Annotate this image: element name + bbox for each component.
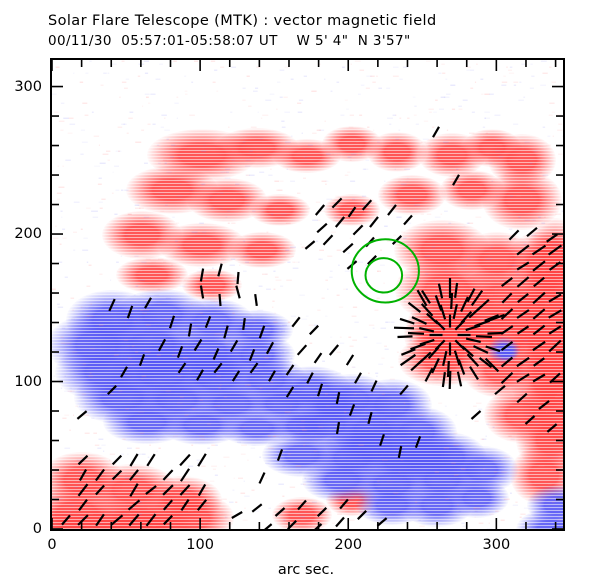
field-vector: [298, 345, 307, 355]
field-vector: [243, 318, 245, 330]
field-vector: [502, 278, 513, 286]
field-vector: [108, 386, 116, 394]
field-vector: [260, 326, 264, 338]
field-vector: [206, 316, 210, 327]
field-vector: [96, 470, 104, 481]
field-vector: [517, 358, 529, 366]
field-vector: [140, 354, 144, 365]
field-vector: [518, 294, 528, 302]
field-vector: [197, 370, 203, 380]
field-vector: [448, 361, 449, 377]
field-vector: [288, 521, 296, 529]
figure-title: Solar Flare Telescope (MTK) : vector mag…: [48, 13, 437, 29]
field-vector: [468, 289, 475, 302]
field-vector: [316, 205, 324, 215]
field-vector: [517, 374, 529, 382]
field-vector: [353, 225, 362, 234]
field-vector: [145, 298, 151, 308]
y-tick-label: 200: [8, 226, 42, 242]
field-vector: [533, 246, 546, 255]
field-vector: [547, 424, 556, 432]
field-vector: [533, 293, 545, 304]
field-vector: [550, 262, 561, 270]
field-vector: [251, 363, 258, 373]
field-vector: [550, 373, 560, 382]
field-vector: [517, 394, 527, 403]
field-vector: [298, 501, 306, 510]
field-vector: [502, 373, 513, 383]
field-vector: [488, 333, 503, 334]
field-vector: [526, 416, 535, 424]
field-vector: [112, 515, 123, 524]
y-tick-label: 0: [8, 521, 42, 537]
field-vector: [517, 245, 529, 254]
field-vector: [501, 326, 513, 334]
plot-area: [50, 58, 565, 531]
field-vector: [129, 500, 140, 509]
field-vector: [420, 340, 434, 345]
field-vector: [377, 518, 386, 526]
field-vector: [163, 470, 172, 480]
field-vector: [533, 342, 545, 350]
field-vector: [470, 367, 478, 380]
field-vector: [363, 200, 372, 210]
field-vector: [80, 470, 86, 481]
field-vector: [96, 514, 104, 525]
field-vector: [533, 309, 544, 319]
field-vector: [549, 326, 561, 333]
field-vector: [181, 500, 188, 511]
field-vector: [201, 269, 203, 282]
field-vector: [77, 411, 86, 419]
field-vector: [370, 217, 378, 227]
field-vector: [201, 286, 203, 299]
field-vector: [458, 372, 461, 387]
field-vector: [178, 346, 182, 357]
field-vector: [439, 284, 442, 299]
field-vector: [400, 385, 408, 394]
field-vector: [358, 511, 366, 519]
field-vector: [129, 515, 138, 526]
figure-subtitle: 00/11/30 05:57:01-05:58:07 UT W 5' 4" N …: [48, 33, 411, 49]
field-vector: [232, 512, 242, 518]
field-vector: [199, 484, 205, 495]
field-vector: [401, 349, 415, 355]
field-vector: [62, 515, 70, 524]
field-vector: [518, 326, 529, 333]
field-vector: [466, 339, 481, 342]
field-vector: [400, 319, 414, 324]
x-tick-label: 300: [483, 537, 511, 553]
field-vector: [486, 347, 500, 352]
field-vector: [130, 470, 138, 480]
field-vector: [220, 294, 221, 306]
field-vector: [517, 277, 528, 287]
field-vector: [478, 300, 489, 310]
field-vector: [218, 264, 221, 277]
field-vector: [130, 484, 137, 497]
field-vector: [337, 422, 339, 434]
field-vector: [347, 355, 353, 365]
field-vector: [533, 375, 545, 382]
x-axis-title: arc sec.: [0, 562, 612, 578]
field-vector: [170, 316, 174, 328]
field-vector: [121, 367, 127, 377]
field-vector: [432, 359, 439, 374]
field-vector: [113, 471, 122, 480]
field-vector: [231, 340, 238, 351]
field-vector: [292, 317, 299, 326]
field-vector: [180, 485, 189, 495]
vector-field-overlay: [52, 60, 563, 529]
field-vector: [502, 309, 513, 319]
field-vector: [307, 373, 313, 384]
field-vector: [404, 216, 412, 225]
y-tick-label: 300: [8, 79, 42, 95]
field-vector: [164, 500, 172, 510]
x-tick-label: 100: [186, 537, 214, 553]
field-vector: [287, 365, 294, 375]
field-vector: [128, 306, 132, 318]
field-vector: [269, 371, 275, 381]
field-vector: [451, 293, 452, 309]
field-vector: [408, 333, 424, 334]
field-vector: [398, 336, 413, 337]
field-vector: [163, 485, 173, 495]
field-vector: [502, 342, 513, 350]
field-vector: [533, 326, 544, 335]
field-vector: [276, 508, 285, 516]
field-vector: [466, 326, 480, 331]
field-vector: [388, 205, 396, 215]
field-vector: [411, 344, 426, 349]
field-vector: [109, 299, 114, 311]
field-vector: [349, 207, 356, 217]
field-vector: [517, 262, 529, 269]
field-vector: [180, 455, 190, 466]
field-vector: [181, 469, 189, 481]
field-vector: [236, 286, 239, 299]
field-vector: [336, 217, 344, 227]
field-vector: [472, 411, 481, 419]
field-vector: [409, 303, 421, 312]
field-vector: [416, 436, 420, 447]
field-vector: [189, 324, 191, 337]
field-vector: [399, 446, 401, 458]
field-vector: [455, 351, 460, 365]
field-vector: [332, 198, 341, 207]
field-vector: [368, 412, 371, 424]
field-vector: [214, 363, 221, 372]
field-vector: [343, 244, 353, 253]
field-vector: [224, 326, 227, 339]
field-vector: [79, 500, 87, 511]
field-vector: [509, 230, 518, 239]
field-vector: [330, 345, 338, 355]
field-vector: [317, 224, 327, 233]
field-vector: [459, 360, 464, 375]
field-vector: [252, 504, 261, 511]
x-tick-label: 0: [47, 537, 56, 553]
field-vector: [262, 524, 271, 529]
field-vector: [502, 358, 513, 367]
field-vector: [130, 454, 137, 466]
field-vector: [287, 387, 293, 397]
field-vector: [340, 499, 348, 508]
field-vector: [355, 373, 361, 383]
field-vector: [318, 508, 327, 516]
field-vector: [198, 454, 206, 466]
field-vector: [238, 272, 239, 284]
field-vector: [372, 381, 377, 392]
field-vector: [380, 434, 384, 445]
field-vector: [549, 310, 562, 317]
field-vector: [267, 342, 273, 353]
field-vector: [233, 371, 239, 381]
field-vector: [336, 518, 344, 527]
field-vector: [453, 175, 459, 185]
field-vector: [443, 351, 446, 366]
field-vector: [495, 386, 505, 394]
field-vector: [78, 515, 88, 525]
field-vector: [450, 371, 451, 389]
field-vector: [443, 372, 445, 387]
field-vector: [549, 294, 561, 301]
field-vector: [113, 456, 122, 465]
field-vector: [318, 384, 322, 396]
field-vector: [310, 326, 318, 335]
field-vector: [419, 328, 434, 331]
field-vector: [476, 336, 492, 337]
field-vector: [461, 297, 468, 312]
field-vector: [517, 310, 529, 318]
field-vector: [549, 341, 561, 352]
field-vector: [179, 363, 186, 373]
field-vector: [527, 228, 537, 236]
field-vector: [96, 486, 104, 495]
field-vector: [147, 454, 154, 466]
field-vector: [278, 449, 282, 460]
field-vector: [534, 278, 544, 287]
field-vector: [547, 234, 558, 241]
field-vector: [475, 321, 490, 326]
field-vector: [454, 304, 457, 319]
magnetogram-figure: Solar Flare Telescope (MTK) : vector mag…: [0, 0, 612, 585]
field-vector: [401, 355, 416, 365]
field-vector: [455, 283, 457, 298]
field-vector: [198, 500, 206, 510]
field-vector: [255, 294, 257, 306]
field-vector: [164, 516, 172, 525]
field-vector: [549, 245, 562, 254]
field-vector: [147, 514, 156, 526]
field-vector: [502, 293, 511, 302]
field-vector: [394, 328, 414, 329]
field-vector: [337, 392, 339, 404]
field-vector: [433, 127, 439, 137]
field-vector: [436, 296, 441, 311]
field-vector: [214, 349, 219, 360]
field-vector: [313, 524, 322, 529]
x-tick-label: 200: [334, 537, 362, 553]
field-vector: [411, 360, 422, 370]
field-vector: [426, 368, 433, 381]
field-vector: [159, 339, 165, 350]
field-vector: [146, 486, 156, 494]
y-tick-label: 100: [8, 374, 42, 390]
field-vector: [195, 340, 202, 351]
field-vector: [250, 349, 254, 360]
field-vector: [534, 358, 545, 366]
field-vector: [260, 473, 265, 484]
field-vector: [350, 404, 354, 415]
field-vector: [533, 261, 545, 270]
field-vector: [79, 484, 88, 496]
field-vector: [79, 456, 88, 465]
contour-umbra: [366, 258, 403, 292]
field-vector: [539, 401, 549, 409]
field-vector: [315, 353, 322, 363]
field-vector: [324, 235, 333, 244]
field-vector: [441, 305, 446, 319]
field-vector: [305, 241, 314, 249]
